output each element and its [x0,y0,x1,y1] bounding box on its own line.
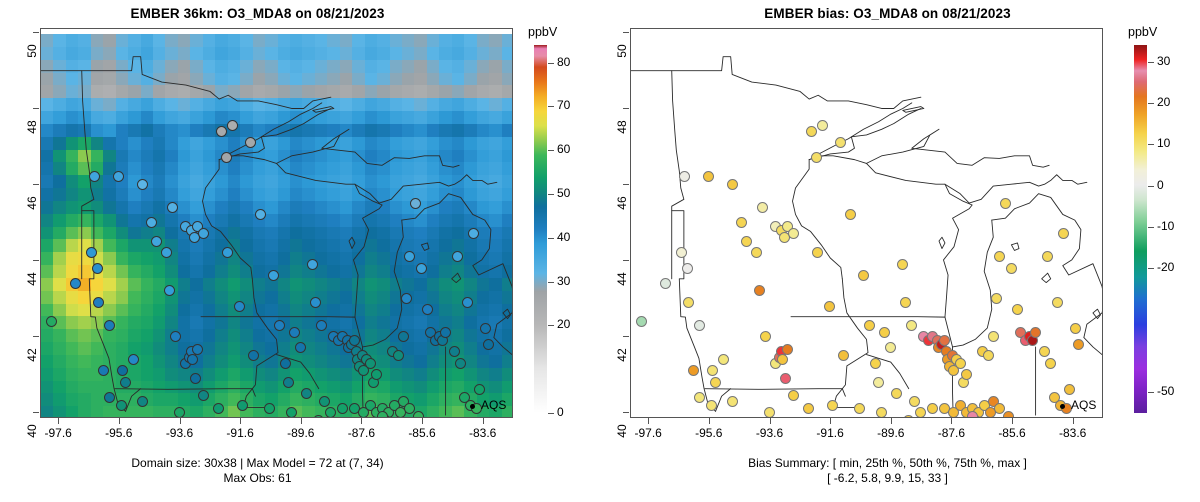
colorbar-tick [1148,392,1154,393]
monitor-point[interactable] [404,251,415,262]
monitor-point[interactable] [410,198,421,209]
monitor-point[interactable] [93,297,104,308]
y-axis-label: 40 [615,411,629,451]
colorbar-tick-label: -10 [1157,219,1174,233]
colorbar-tick-label: 20 [557,317,570,331]
aqs-legend-dot [470,404,475,409]
y-axis-label: 50 [615,31,629,71]
colorbar-tick-label: -50 [1157,384,1174,398]
colorbar-tick [548,194,554,195]
colorbar-tick-label: 40 [557,230,570,244]
monitor-point[interactable] [319,396,330,407]
monitor-point[interactable] [137,396,148,407]
aqs-legend-label: AQS [481,398,506,412]
monitor-point[interactable] [371,369,382,380]
x-axis-tick [830,418,831,424]
monitor-point[interactable] [1073,339,1084,350]
colorbar-tick-label: 30 [1157,54,1170,68]
monitor-point[interactable] [216,126,227,137]
monitor-point[interactable] [676,247,687,258]
colorbar-tick-label: 0 [557,405,564,419]
x-axis-tick [770,418,771,424]
monitor-point[interactable] [98,365,109,376]
monitor-point[interactable] [682,263,693,274]
x-axis-tick [648,418,649,424]
colorbar-tick [1148,227,1154,228]
monitor-point[interactable] [280,358,291,369]
monitor-point[interactable] [198,228,209,239]
x-axis-tick [483,418,484,424]
colorbar-tick-label: 60 [557,142,570,156]
monitor-point[interactable] [146,217,157,228]
colorbar-tick-label: 50 [557,186,570,200]
monitor-point[interactable] [198,390,209,401]
monitor-point[interactable] [398,331,409,342]
colorbar-tick [548,282,554,283]
x-axis-label: -87.6 [331,426,391,440]
monitor-point[interactable] [413,411,424,417]
monitor-point[interactable] [909,396,920,407]
panel-bias: EMBER bias: O3_MDA8 on 08/21/2023 -97.6-… [600,0,1200,502]
monitor-point[interactable] [897,259,908,270]
aqs-legend-dot [1060,404,1065,409]
monitor-point[interactable] [736,217,747,228]
x-axis-tick [361,418,362,424]
monitor-point[interactable] [727,396,738,407]
colorbar-tick-label: -20 [1157,260,1174,274]
monitor-point[interactable] [128,354,139,365]
x-axis-tick [240,418,241,424]
panel-model-plot-frame [40,28,513,418]
monitor-point[interactable] [806,126,817,137]
monitor-point[interactable] [167,202,178,213]
monitor-point[interactable] [1058,228,1069,239]
x-axis-label: -87.6 [921,426,981,440]
monitor-point[interactable] [967,411,978,417]
monitor-point[interactable] [900,297,911,308]
monitor-point[interactable] [1052,297,1063,308]
monitor-point[interactable] [401,293,412,304]
colorbar-tick [1148,186,1154,187]
monitor-point[interactable] [120,377,131,388]
monitor-point[interactable] [104,320,115,331]
colorbar-tick-label: 70 [557,98,570,112]
monitor-point[interactable] [858,270,869,281]
monitor-point[interactable] [1003,411,1014,417]
monitor-point[interactable] [237,400,248,411]
monitor-point[interactable] [838,350,849,361]
panel-model-caption-line1: Domain size: 30x38 | Max Model = 72 at (… [0,456,515,471]
x-axis-label: -93.6 [740,426,800,440]
monitor-point[interactable] [994,251,1005,262]
monitor-point[interactable] [151,236,162,247]
monitor-point[interactable] [192,344,203,355]
panel-model-title: EMBER 36km: O3_MDA8 on 08/21/2023 [0,6,515,21]
monitor-point[interactable] [988,331,999,342]
colorbar-tick-label: 80 [557,55,570,69]
x-axis-label: -85.6 [392,426,452,440]
panel-bias-plot-frame [630,28,1103,418]
monitor-point[interactable] [757,202,768,213]
figure-root: EMBER 36km: O3_MDA8 on 08/21/2023 -97.6-… [0,0,1200,502]
y-axis-label: 46 [615,183,629,223]
monitor-point[interactable] [727,179,738,190]
monitor-point[interactable] [906,320,917,331]
colorbar-tick [1148,268,1154,269]
colorbar-tick [548,413,554,414]
monitor-point[interactable] [365,358,376,369]
monitor-point[interactable] [688,365,699,376]
monitor-point[interactable] [113,171,124,182]
monitor-point[interactable] [190,373,201,384]
monitor-point[interactable] [780,373,791,384]
monitor-point[interactable] [876,407,887,417]
monitor-point[interactable] [694,392,705,403]
monitor-point[interactable] [221,152,232,163]
monitor-point[interactable] [274,320,285,331]
aqs-legend-label: AQS [1071,398,1096,412]
monitor-point[interactable] [116,400,127,411]
y-axis-label: 48 [25,107,39,147]
monitor-point[interactable] [310,297,321,308]
monitor-point[interactable] [811,152,822,163]
y-axis-label: 44 [615,259,629,299]
colorbar-unit-left: ppbV [528,25,557,39]
y-axis-label: 50 [25,31,39,71]
y-axis-label: 48 [615,107,629,147]
x-axis-label: -85.6 [982,426,1042,440]
monitor-point[interactable] [283,377,294,388]
monitor-point[interactable] [870,358,881,369]
panel-model: EMBER 36km: O3_MDA8 on 08/21/2023 -97.6-… [0,0,600,502]
x-axis-tick [301,418,302,424]
monitor-point[interactable] [416,263,427,274]
monitor-point[interactable] [325,407,336,417]
monitor-point[interactable] [286,407,297,417]
monitor-point[interactable] [683,297,694,308]
y-axis-label: 42 [25,335,39,375]
colorbar-tick-label: 20 [1157,95,1170,109]
colorbar-tick [548,106,554,107]
monitor-point[interactable] [462,297,473,308]
x-axis-label: -89.6 [271,426,331,440]
monitor-point[interactable] [703,171,714,182]
monitor-point[interactable] [92,263,103,274]
x-axis-label: -95.6 [89,426,149,440]
monitor-point[interactable] [483,339,494,350]
monitor-point[interactable] [89,171,100,182]
monitor-point[interactable] [710,377,721,388]
monitor-point[interactable] [301,388,312,399]
x-axis-label: -83.6 [1043,426,1103,440]
monitor-point[interactable] [468,228,479,239]
panel-bias-caption-line1: Bias Summary: [ min, 25th %, 50th %, 75t… [630,456,1145,471]
colorbar-unit-right: ppbV [1128,25,1157,39]
monitor-point[interactable] [679,171,690,182]
x-axis-label: -95.6 [679,426,739,440]
colorbar-tick-label: 10 [1157,136,1170,150]
map-boundaries-right [631,29,1102,417]
monitor-point[interactable] [1045,358,1056,369]
x-axis-tick [58,418,59,424]
monitor-point[interactable] [864,320,875,331]
x-axis-tick [180,418,181,424]
monitor-point[interactable] [174,407,185,417]
panel-bias-caption-line2: [ -6.2, 5.8, 9.9, 15, 33 ] [630,471,1145,486]
x-axis-tick [951,418,952,424]
panel-bias-title: EMBER bias: O3_MDA8 on 08/21/2023 [630,6,1145,21]
monitor-point[interactable] [827,400,838,411]
map-boundaries-left [41,29,512,417]
monitor-point[interactable] [741,236,752,247]
monitor-point[interactable] [764,407,775,417]
colorbar-right [1134,45,1147,413]
panel-model-plot-area [41,29,512,417]
monitor-point[interactable] [955,358,966,369]
monitor-point[interactable] [268,270,279,281]
monitor-point[interactable] [104,392,115,403]
monitor-point[interactable] [777,354,788,365]
x-axis-label: -93.6 [150,426,210,440]
panel-bias-plot-area [631,29,1102,417]
colorbar-tick-label: 30 [557,274,570,288]
x-axis-label: -89.6 [861,426,921,440]
colorbar-left [534,45,547,413]
monitor-point[interactable] [636,316,647,327]
monitor-point[interactable] [1064,384,1075,395]
y-axis-label: 40 [25,411,39,451]
x-axis-label: -91.6 [800,426,860,440]
x-axis-tick [709,418,710,424]
monitor-point[interactable] [961,369,972,380]
monitor-point[interactable] [289,327,300,338]
monitor-point[interactable] [46,316,57,327]
monitor-point[interactable] [915,407,926,417]
x-axis-label: -91.6 [210,426,270,440]
monitor-point[interactable] [316,320,327,331]
monitor-point[interactable] [377,411,388,417]
monitor-point[interactable] [455,358,466,369]
monitor-point[interactable] [788,228,799,239]
x-axis-label: -83.6 [453,426,513,440]
colorbar-tick [548,63,554,64]
monitor-point[interactable] [891,388,902,399]
monitor-point[interactable] [137,179,148,190]
monitor-point[interactable] [1006,263,1017,274]
monitor-point[interactable] [474,384,485,395]
x-axis-tick [891,418,892,424]
monitor-point[interactable] [307,259,318,270]
monitor-point[interactable] [873,377,884,388]
monitor-point[interactable] [245,137,256,148]
monitor-point[interactable] [824,301,835,312]
monitor-point[interactable] [706,400,717,411]
y-axis-label: 42 [615,335,629,375]
panel-model-caption-line2: Max Obs: 61 [0,471,515,486]
monitor-point[interactable] [817,120,828,131]
colorbar-tick [1148,103,1154,104]
monitor-point[interactable] [788,390,799,401]
colorbar-tick [548,325,554,326]
monitor-point[interactable] [718,354,729,365]
monitor-point[interactable] [835,137,846,148]
monitor-point[interactable] [187,354,198,365]
colorbar-tick [548,150,554,151]
x-axis-tick [119,418,120,424]
y-axis-label: 46 [25,183,39,223]
x-axis-tick [1012,418,1013,424]
monitor-point[interactable] [227,120,238,131]
monitor-point[interactable] [248,350,259,361]
x-axis-tick [1073,418,1074,424]
monitor-point[interactable] [86,247,97,258]
monitor-point[interactable] [879,327,890,338]
monitor-point[interactable] [234,301,245,312]
colorbar-tick-label: 0 [1157,178,1164,192]
monitor-point[interactable] [1000,198,1011,209]
y-axis-label: 44 [25,259,39,299]
monitor-point[interactable] [782,344,793,355]
colorbar-tick [1148,144,1154,145]
colorbar-tick [548,238,554,239]
x-axis-tick [422,418,423,424]
monitor-point[interactable] [991,293,1002,304]
monitor-point[interactable] [694,320,705,331]
colorbar-tick [1148,62,1154,63]
